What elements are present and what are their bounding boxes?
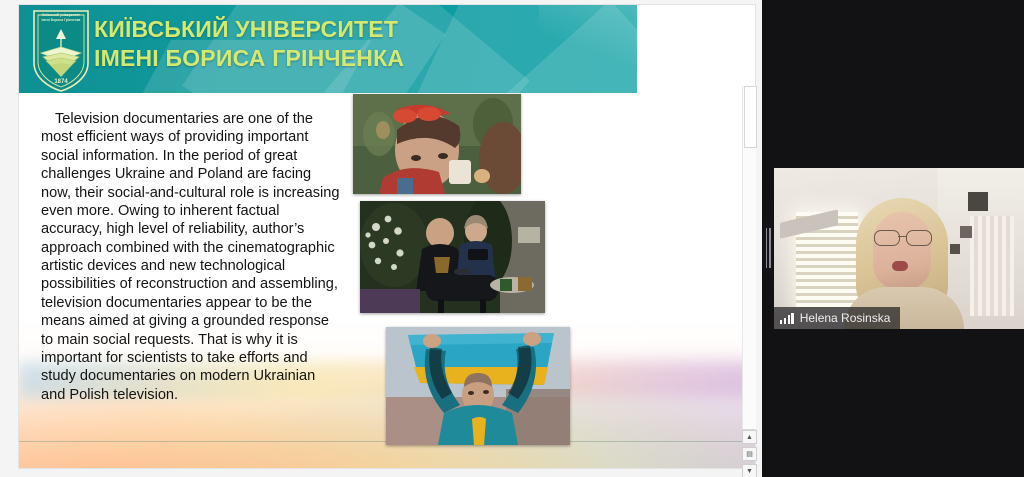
university-title-line-1: КИЇВСЬКИЙ УНІВЕРСИТЕТ (94, 15, 614, 44)
scrollbar-buttons[interactable]: ▲ ▤ ▼ (742, 430, 757, 472)
photo-man-with-ukrainian-flag (386, 327, 570, 445)
scrollbar-thumb[interactable] (744, 86, 757, 148)
logo-year-text: 1874 (54, 79, 68, 85)
photo-1-graphic (353, 94, 521, 194)
scroll-split-button[interactable]: ▤ (742, 447, 757, 461)
app-window: КИЇВСЬКИЙ УНІВЕРСИТЕТ ІМЕНІ БОРИСА ГРІНЧ… (0, 0, 1024, 477)
glasses-lens-right (906, 230, 932, 246)
slide-header-banner: КИЇВСЬКИЙ УНІВЕРСИТЕТ ІМЕНІ БОРИСА ГРІНЧ… (19, 5, 637, 93)
video-panel: Helena Rosinska (762, 0, 1024, 477)
scroll-up-button[interactable]: ▲ (742, 430, 757, 444)
participant-name: Helena Rosinska (800, 311, 891, 325)
glasses-bridge (898, 236, 907, 237)
video-frame-background (774, 168, 1024, 329)
slide-body-text: Television documentaries are one of the … (41, 110, 341, 404)
participant-name-badge: Helena Rosinska (774, 307, 900, 329)
room-curtain (970, 216, 1014, 316)
photo-smiling-woman-outdoors (353, 94, 521, 194)
scroll-down-button[interactable]: ▼ (742, 464, 757, 477)
university-title: КИЇВСЬКИЙ УНІВЕРСИТЕТ ІМЕНІ БОРИСА ГРІНЧ… (94, 15, 614, 73)
drag-grip-line (769, 228, 771, 268)
wall-object (960, 226, 972, 238)
participant-face (873, 212, 931, 290)
shared-screen-pane[interactable]: КИЇВСЬКИЙ УНІВЕРСИТЕТ ІМЕНІ БОРИСА ГРІНЧ… (0, 0, 762, 477)
photo-3-graphic (386, 327, 570, 445)
photo-2-graphic (360, 201, 545, 313)
glasses-lens-left (874, 230, 900, 246)
photo-two-people-barbecue (360, 201, 545, 313)
university-title-line-2: ІМЕНІ БОРИСА ГРІНЧЕНКА (94, 44, 614, 73)
participant-video-tile[interactable]: Helena Rosinska (774, 168, 1024, 329)
drag-grip-line (766, 228, 768, 268)
logo-motto: Київський університет імені Бориса Грінч… (35, 13, 87, 23)
presentation-vertical-scrollbar[interactable] (742, 86, 756, 429)
university-logo: 1874 Київський університет імені Бориса … (32, 9, 90, 93)
presentation-slide[interactable]: КИЇВСЬКИЙ УНІВЕРСИТЕТ ІМЕНІ БОРИСА ГРІНЧ… (19, 5, 755, 468)
wall-object (950, 244, 960, 254)
wall-object (968, 192, 988, 211)
panel-drag-handle[interactable] (764, 222, 772, 274)
eyeglasses-icon (872, 230, 934, 244)
logo-motto-line-2: імені Бориса Грінченка (35, 18, 87, 23)
signal-bars-icon (780, 313, 794, 324)
participant-mouth (892, 261, 908, 271)
